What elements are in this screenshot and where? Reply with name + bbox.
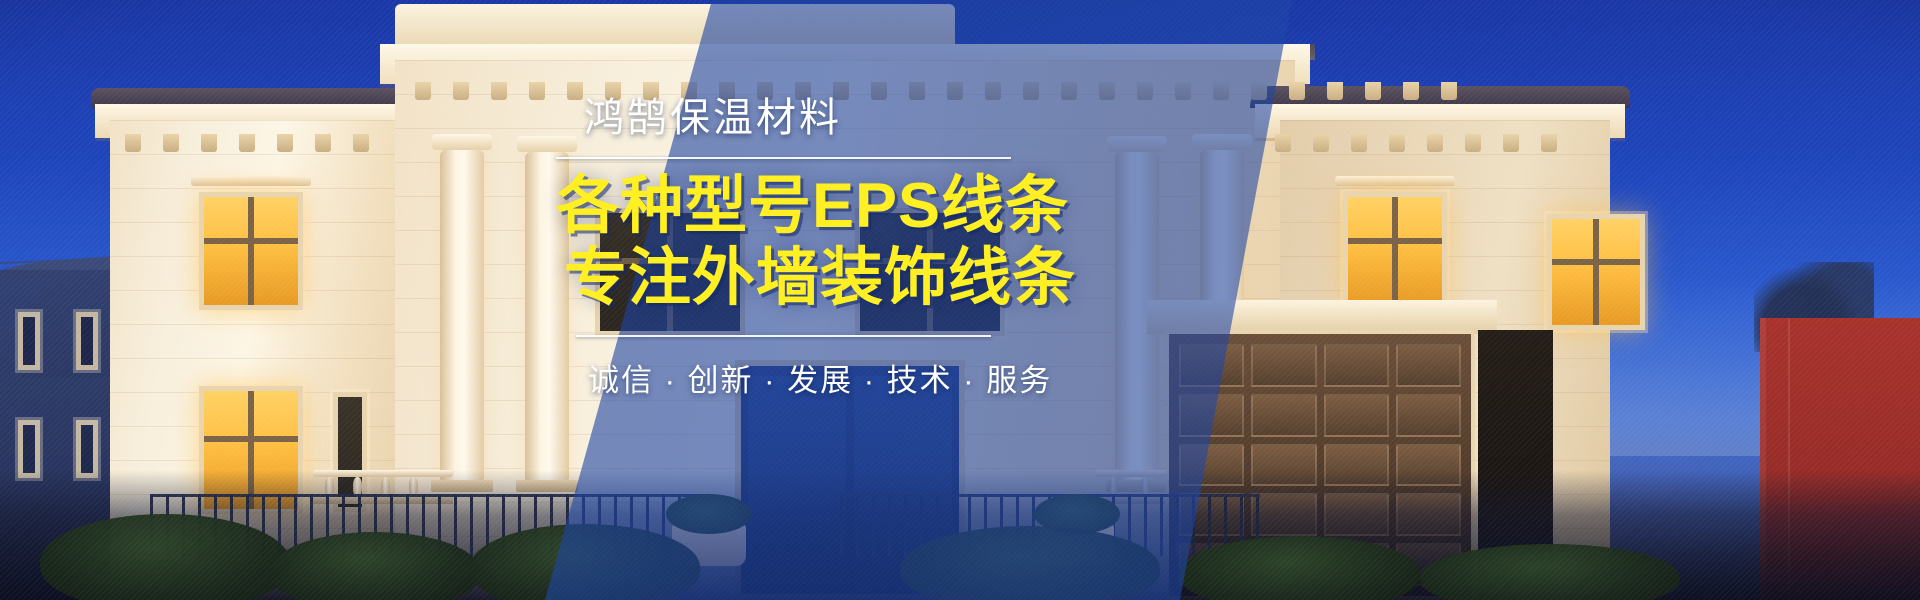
window-lit — [1343, 192, 1447, 310]
hero-banner: 鸿鹄保温材料 各种型号EPS线条 专注外墙装饰线条 诚信 · 创新 · 发展 ·… — [0, 0, 1920, 600]
shrub — [270, 532, 480, 600]
banner-text-block: 鸿鹄保温材料 各种型号EPS线条 专注外墙装饰线条 诚信 · 创新 · 发展 ·… — [548, 96, 1188, 400]
tagline: 诚信 · 创新 · 发展 · 技术 · 服务 — [548, 355, 1188, 400]
garage-lintel — [1147, 300, 1497, 334]
shrub — [1180, 536, 1420, 600]
shrub — [40, 514, 290, 600]
window-lit — [1547, 214, 1645, 330]
window-lit — [199, 192, 303, 310]
headline: 各种型号EPS线条 专注外墙装饰线条 — [548, 171, 1188, 315]
window-hood — [191, 176, 311, 186]
shrub — [900, 526, 1160, 600]
dentil-row-left — [125, 134, 369, 152]
window-hood — [1335, 176, 1455, 186]
column — [440, 150, 484, 480]
divider-lower — [576, 335, 991, 337]
brand-name: 鸿鹄保温材料 — [548, 96, 1188, 140]
headline-line-1: 各种型号EPS线条 — [556, 171, 1188, 243]
shrub — [470, 524, 700, 600]
dentil-row-right — [1275, 134, 1557, 152]
headline-line-2: 专注外墙装饰线条 — [556, 243, 1188, 315]
divider-upper — [556, 157, 1011, 159]
